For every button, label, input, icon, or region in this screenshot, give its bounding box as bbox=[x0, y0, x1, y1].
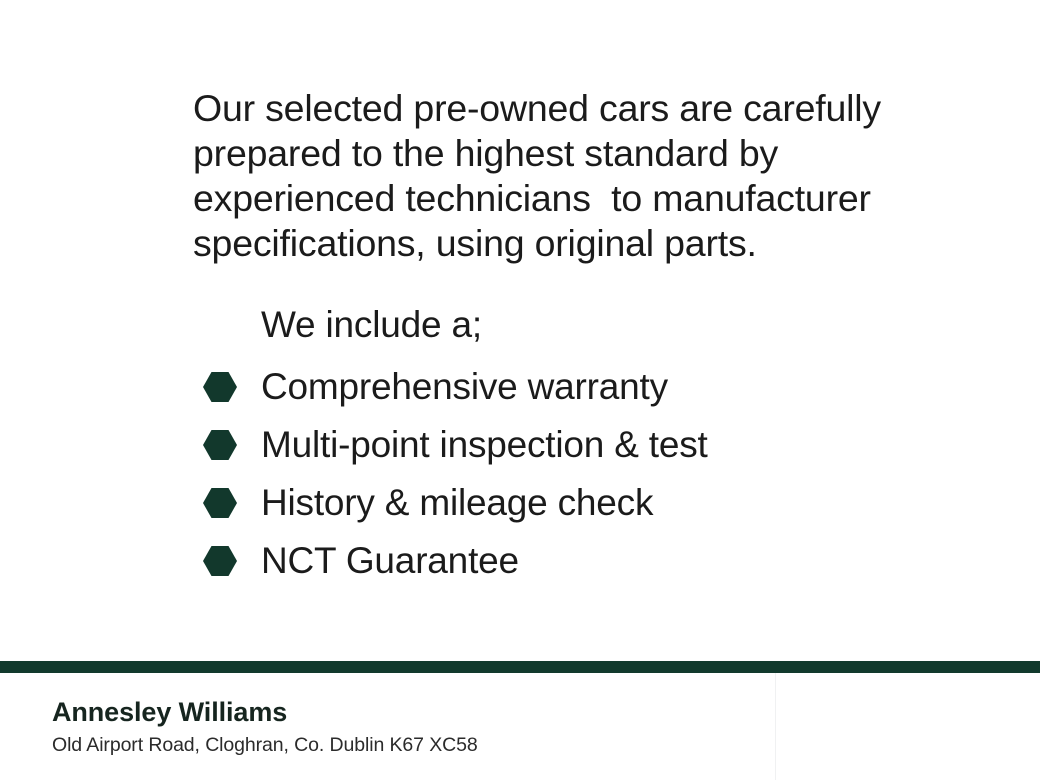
inclusions-list: Comprehensive warranty Multi-point inspe… bbox=[203, 358, 963, 590]
include-intro-text: We include a; bbox=[261, 303, 482, 347]
dealer-name: Annesley Williams bbox=[52, 696, 478, 728]
promotional-slide: Our selected pre-owned cars are carefull… bbox=[0, 0, 1040, 780]
headline-line-4: specifications, using original parts. bbox=[193, 221, 993, 266]
hexagon-bullet-icon bbox=[203, 430, 237, 460]
list-item-label: History & mileage check bbox=[261, 481, 653, 525]
hexagon-bullet-icon bbox=[203, 488, 237, 518]
hexagon-bullet-icon bbox=[203, 372, 237, 402]
dealer-address: Old Airport Road, Cloghran, Co. Dublin K… bbox=[52, 733, 478, 757]
footer-accent-bar bbox=[0, 661, 1040, 673]
list-item-label: NCT Guarantee bbox=[261, 539, 519, 583]
footer: Annesley Williams Old Airport Road, Clog… bbox=[0, 673, 1040, 780]
headline-line-2: prepared to the highest standard by bbox=[193, 131, 993, 176]
footer-vertical-divider bbox=[775, 673, 776, 780]
dealer-info-block: Annesley Williams Old Airport Road, Clog… bbox=[52, 696, 478, 757]
list-item-label: Comprehensive warranty bbox=[261, 365, 668, 409]
headline-line-3: experienced technicians to manufacturer bbox=[193, 176, 993, 221]
hexagon-bullet-icon bbox=[203, 546, 237, 576]
list-item: Multi-point inspection & test bbox=[203, 416, 963, 474]
list-item: Comprehensive warranty bbox=[203, 358, 963, 416]
list-item: History & mileage check bbox=[203, 474, 963, 532]
headline-text: Our selected pre-owned cars are carefull… bbox=[193, 86, 993, 266]
list-item: NCT Guarantee bbox=[203, 532, 963, 590]
list-item-label: Multi-point inspection & test bbox=[261, 423, 708, 467]
headline-line-1: Our selected pre-owned cars are carefull… bbox=[193, 86, 993, 131]
